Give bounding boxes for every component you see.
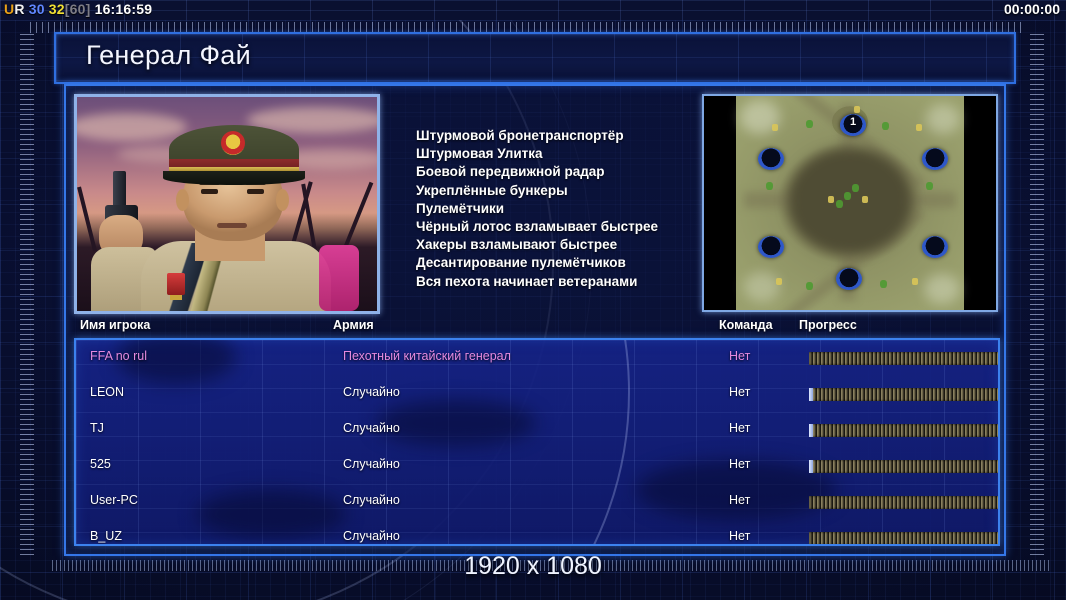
cell-army[interactable]: Случайно [343, 529, 400, 543]
map-supply [862, 196, 868, 203]
map-start-position [922, 148, 948, 170]
table-row[interactable]: TJ Случайно Нет [76, 421, 998, 445]
map-supply [772, 124, 778, 131]
statusbar-grid [0, 0, 1066, 20]
map-supply [916, 124, 922, 131]
info-row: Штурмовой бронетранспортёр Штурмовая Ули… [74, 94, 994, 310]
map-supply [854, 106, 860, 113]
cell-player-name: 525 [90, 457, 111, 471]
epaulet [319, 245, 359, 311]
map-tree [806, 120, 813, 128]
map-tree [882, 122, 889, 130]
table-row[interactable]: User-PC Случайно Нет [76, 493, 998, 517]
table-row[interactable]: 525 Случайно Нет [76, 457, 998, 481]
readout-bracket: [60] [65, 1, 91, 17]
progress-lead [809, 388, 813, 401]
map-start-position [922, 236, 948, 258]
column-header-progress: Прогресс [799, 318, 857, 332]
map-tree [766, 182, 773, 190]
cell-team[interactable]: Нет [729, 385, 750, 399]
cell-army[interactable]: Случайно [343, 493, 400, 507]
eye [201, 189, 218, 194]
match-timer: 00:00:00 [1004, 1, 1060, 17]
start-position-label: 1 [840, 116, 866, 128]
ear [176, 189, 189, 211]
ability-item: Вся пехота начинает ветеранами [416, 273, 698, 291]
general-abilities-panel: Штурмовой бронетранспортёр Штурмовая Ули… [380, 94, 698, 308]
readout-r: R [14, 1, 24, 17]
map-image: 1 [736, 96, 964, 310]
cell-team[interactable]: Нет [729, 457, 750, 471]
ability-item: Штурмовой бронетранспортёр [416, 127, 698, 145]
map-tree [836, 200, 843, 208]
ruler-right [1030, 34, 1044, 558]
cell-army[interactable]: Случайно [343, 457, 400, 471]
map-tree [880, 280, 887, 288]
map-start-position [836, 268, 862, 290]
performance-readout: UR 30 32[60] 16:16:59 [4, 1, 152, 17]
ability-item: Хакеры взламывают быстрее [416, 236, 698, 254]
table-row[interactable]: FFA no rul Пехотный китайский генерал Не… [76, 349, 998, 373]
ability-item: Укреплённые бункеры [416, 182, 698, 200]
map-start-position [758, 236, 784, 258]
general-portrait [74, 94, 380, 314]
player-list: FFA no rul Пехотный китайский генерал Не… [74, 338, 1000, 546]
map-light-patch [744, 272, 780, 302]
readout-u: U [4, 1, 14, 17]
map-tree [852, 184, 859, 192]
map-tree [844, 192, 851, 200]
cell-army[interactable]: Случайно [343, 385, 400, 399]
progress-bar [809, 496, 1000, 509]
readout-clock: 16:16:59 [95, 1, 153, 17]
page-title: Генерал Фай [86, 40, 251, 71]
map-tree [926, 182, 933, 190]
ability-item: Штурмовая Улитка [416, 145, 698, 163]
progress-bar [809, 352, 1000, 365]
map-supply [828, 196, 834, 203]
progress-lead [809, 460, 813, 473]
cell-player-name: User-PC [90, 493, 138, 507]
mouth [217, 223, 247, 228]
progress-bar [809, 424, 1000, 437]
map-preview[interactable]: 1 [702, 94, 998, 312]
column-header-army: Армия [333, 318, 374, 332]
resolution-label: 1920 x 1080 [0, 552, 1066, 581]
map-supply [776, 278, 782, 285]
lobby-body-panel: Штурмовой бронетранспортёр Штурмовая Ули… [64, 84, 1006, 556]
map-light-patch [924, 274, 960, 304]
map-start-position: 1 [840, 114, 866, 136]
abilities-list: Штурмовой бронетранспортёр Штурмовая Ули… [380, 94, 698, 291]
cap-badge-icon [221, 131, 245, 155]
cell-player-name: B_UZ [90, 529, 122, 543]
cell-army[interactable]: Случайно [343, 421, 400, 435]
progress-bar [809, 460, 1000, 473]
readout-fps: 30 [29, 1, 45, 17]
cell-army[interactable]: Пехотный китайский генерал [343, 349, 511, 363]
table-row[interactable]: B_UZ Случайно Нет [76, 529, 998, 546]
ability-item: Чёрный лотос взламывает быстрее [416, 218, 698, 236]
column-header-player: Имя игрока [80, 318, 150, 332]
progress-bar [809, 532, 1000, 545]
cell-team[interactable]: Нет [729, 493, 750, 507]
title-bar: Генерал Фай [54, 32, 1016, 84]
map-light-patch [926, 104, 960, 134]
ear [276, 189, 289, 211]
table-row[interactable]: LEON Случайно Нет [76, 385, 998, 409]
map-start-position [758, 148, 784, 170]
eye [247, 189, 264, 194]
cell-player-name: FFA no rul [90, 349, 147, 363]
ability-item: Пулемётчики [416, 200, 698, 218]
cell-team[interactable]: Нет [729, 529, 750, 543]
game-lobby-screen: UR 30 32[60] 16:16:59 00:00:00 Генерал Ф… [0, 0, 1066, 600]
cell-team[interactable]: Нет [729, 421, 750, 435]
cell-player-name: TJ [90, 421, 104, 435]
readout-fps2: 32 [49, 1, 65, 17]
cell-team[interactable]: Нет [729, 349, 750, 363]
ability-item: Боевой передвижной радар [416, 163, 698, 181]
cap-brim [163, 171, 305, 185]
ability-item: Десантирование пулемётчиков [416, 254, 698, 272]
lobby-frame: Генерал Фай [40, 32, 1026, 552]
progress-bar [809, 388, 1000, 401]
cell-player-name: LEON [90, 385, 124, 399]
map-tree [806, 282, 813, 290]
column-header-team: Команда [719, 318, 773, 332]
map-center-crater [788, 148, 912, 254]
progress-lead [809, 424, 813, 437]
map-supply [912, 278, 918, 285]
status-bar: UR 30 32[60] 16:16:59 00:00:00 [0, 0, 1066, 20]
player-table-header: Имя игрока Армия Команда Прогресс [80, 318, 990, 340]
ruler-left [20, 34, 34, 558]
medal-icon [167, 273, 185, 295]
